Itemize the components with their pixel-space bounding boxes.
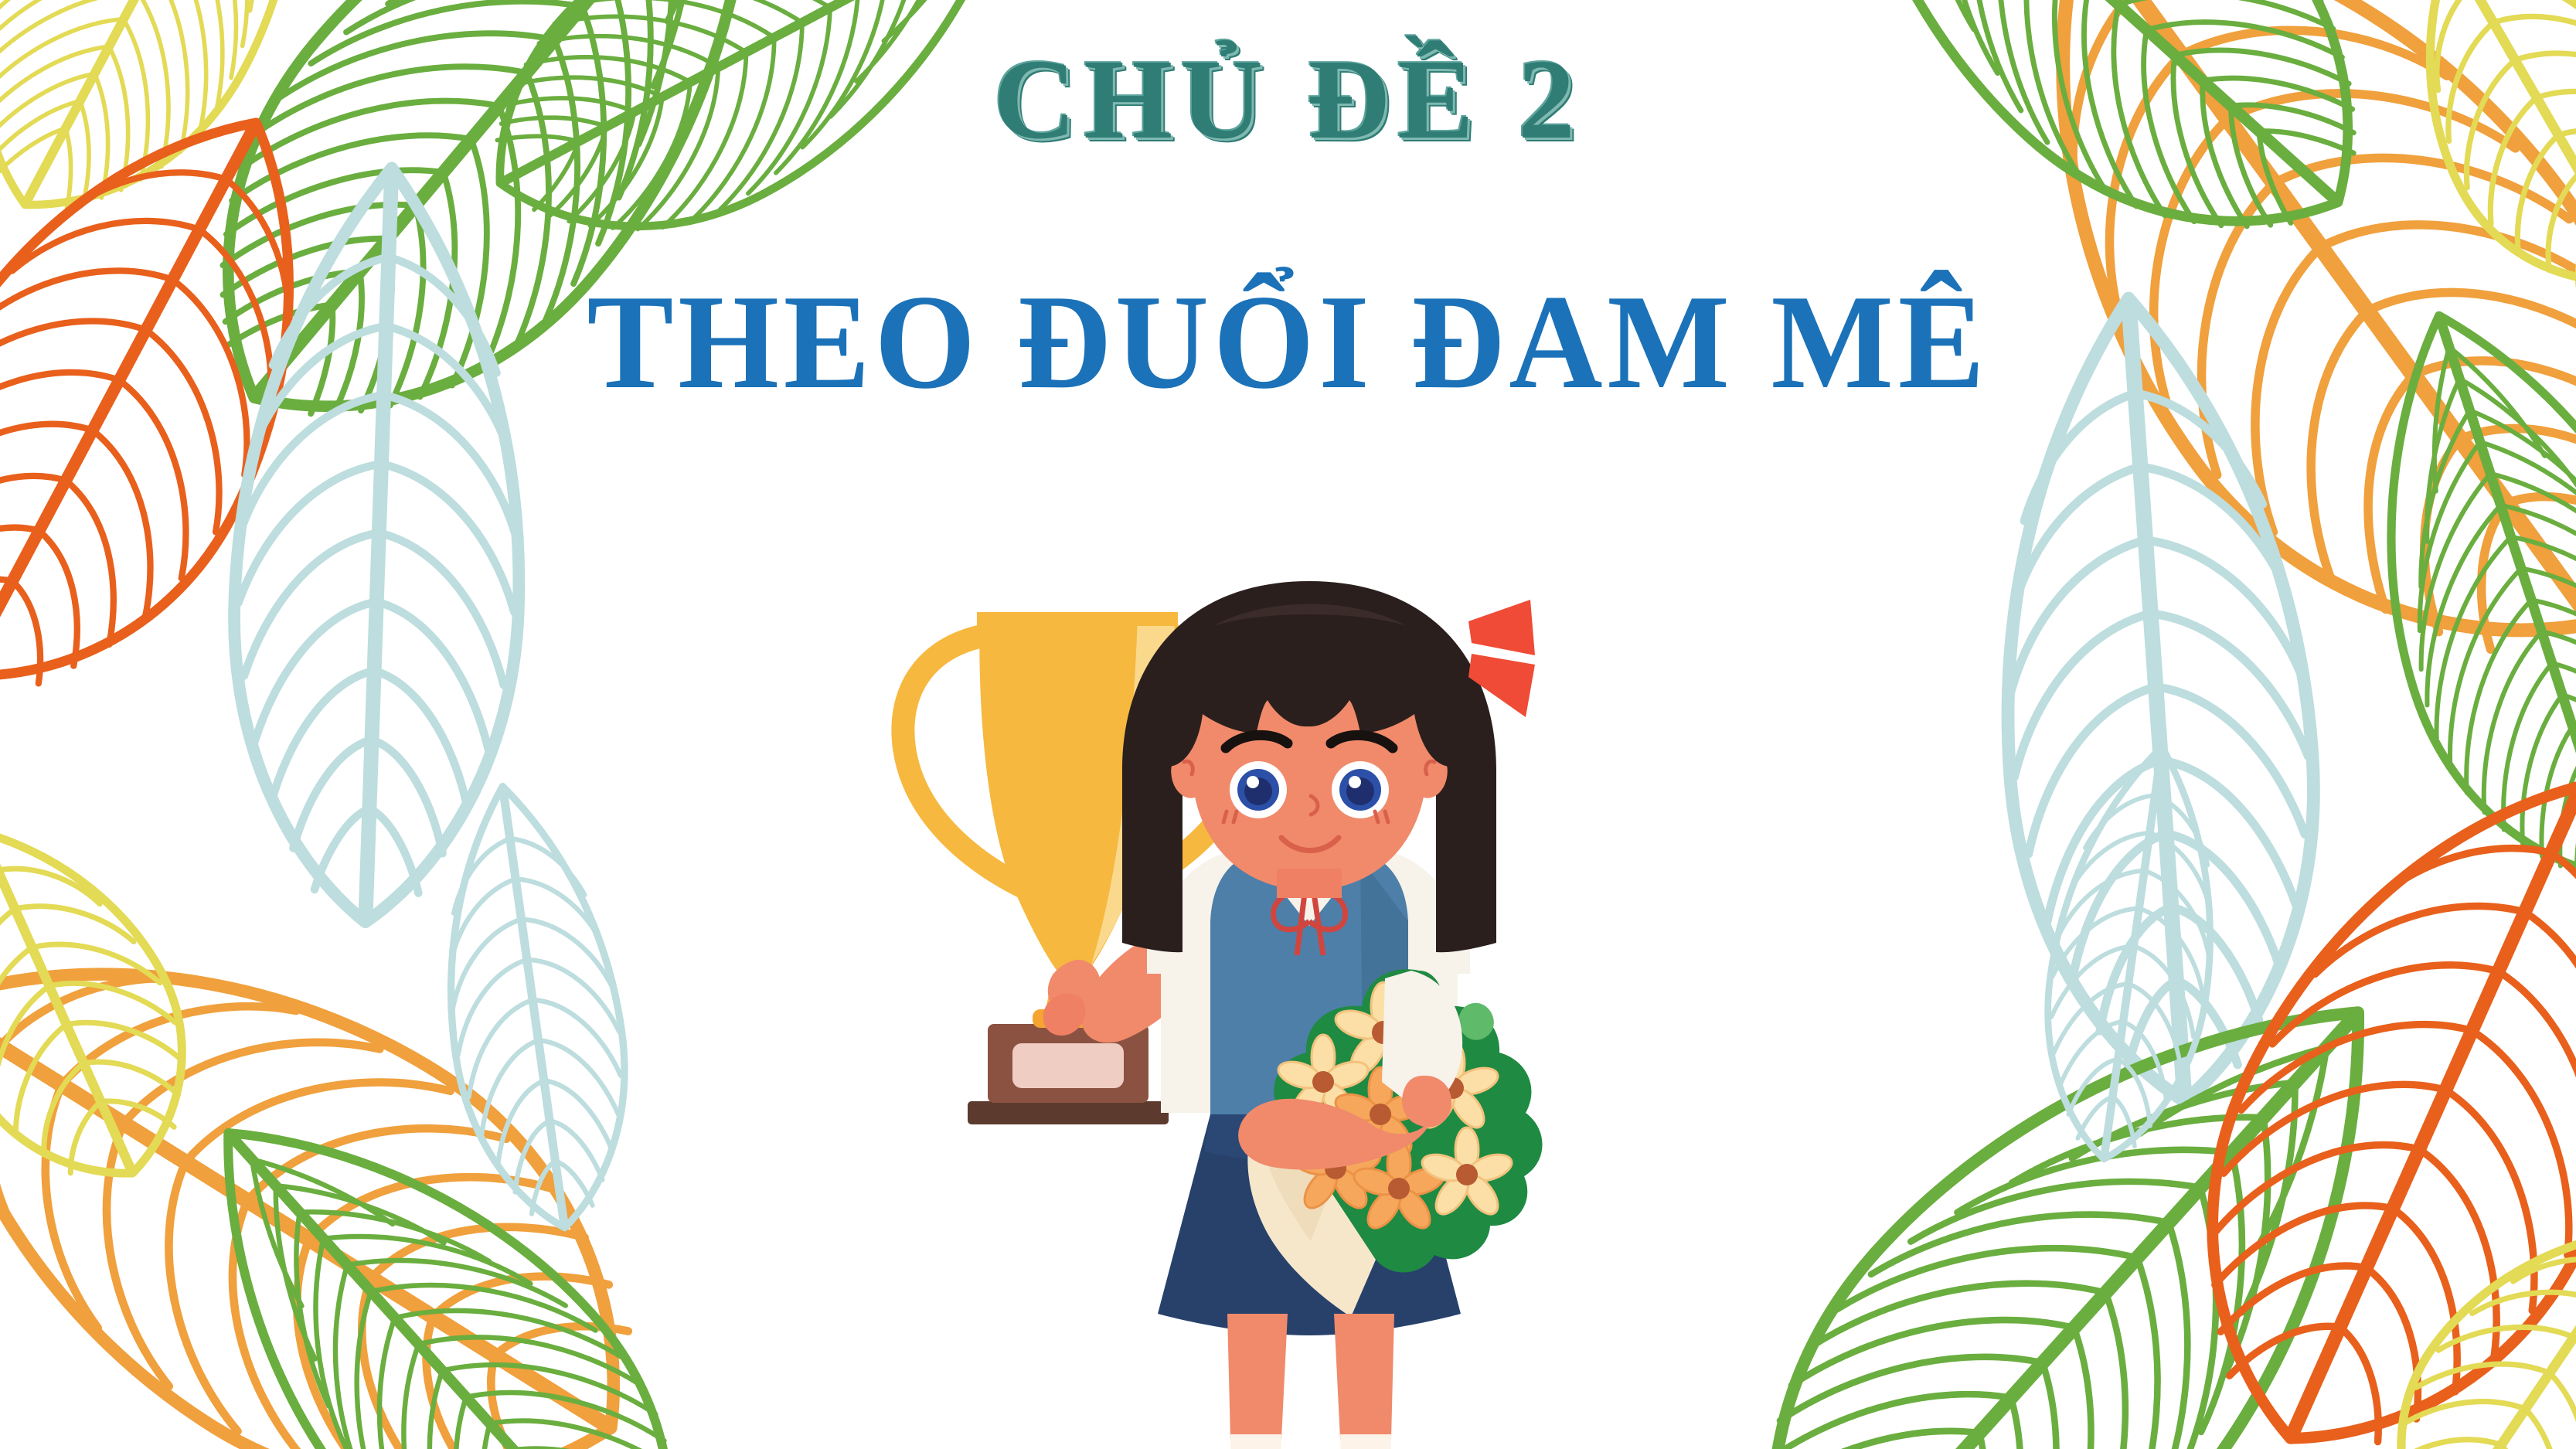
leaf-bottom-right-pale-blue (2026, 736, 2240, 1170)
leaf-bottom-left-yellow (0, 787, 232, 1217)
leaf-bottom-left-orange (0, 825, 722, 1449)
schoolgirl-illustration (850, 541, 1762, 1449)
leaf-bottom-right-green (1649, 880, 2505, 1449)
leaf-bottom-right-yellow (2339, 1168, 2576, 1449)
leaf-bottom-left-pale-blue (420, 774, 648, 1239)
page-title: CHỦ ĐỀ 2 (0, 40, 2576, 160)
leaf-bottom-right-orange (2120, 710, 2576, 1449)
slide-canvas: CHỦ ĐỀ 2 THEO ĐUỔI ĐAM MÊ (0, 0, 2576, 1449)
leaf-right-pale-blue (1978, 287, 2336, 1111)
page-subtitle: THEO ĐUỔI ĐAM MÊ (52, 274, 2525, 410)
leaf-bottom-left-green (117, 1033, 763, 1449)
